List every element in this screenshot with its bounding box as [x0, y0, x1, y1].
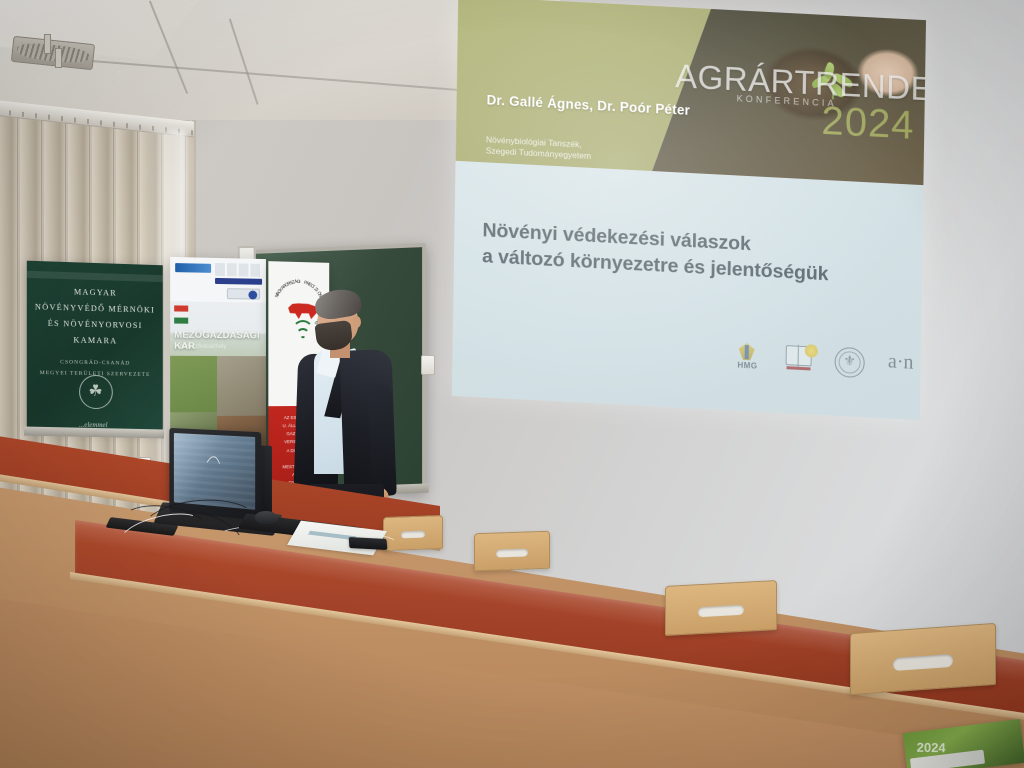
conference-brand: AGRÁRTRENDEK KONFERENCIA 2024 [668, 59, 920, 170]
chair-back[interactable] [850, 623, 996, 695]
eu-flag-strip-icon [215, 278, 262, 285]
mobile-phone[interactable] [349, 537, 388, 550]
hmg-logo-icon: HMG [730, 340, 765, 376]
ceiling-seam [40, 56, 459, 90]
presentation-slide: AGRÁRTRENDEK KONFERENCIA 2024 Dr. Gallé … [452, 0, 926, 420]
slide-title: Növényi védekezési válaszok a változó kö… [482, 217, 903, 291]
ear [352, 316, 361, 328]
an-logo-label: a·n [884, 351, 918, 373]
kamara-title-line-3: ÉS NÖVÉNYORVOSI [35, 315, 155, 334]
lecture-hall-photo: AGRÁRTRENDEK KONFERENCIA 2024 Dr. Gallé … [0, 0, 1024, 768]
vent-bracket [44, 34, 51, 54]
hungarian-flag-icon [174, 305, 188, 323]
chair-back[interactable] [665, 580, 777, 636]
mouse[interactable] [254, 511, 278, 524]
ceiling-seam [229, 19, 258, 105]
projection-screen: AGRÁRTRENDEK KONFERENCIA 2024 Dr. Gallé … [452, 0, 926, 420]
an-logo-icon: a·n [883, 348, 918, 384]
mate-logo-icon [781, 343, 816, 379]
kamara-title-line-4: KAMARA [35, 332, 155, 351]
vent-bracket [55, 48, 62, 68]
seal-logo-icon [832, 346, 867, 382]
chair-back[interactable] [474, 531, 550, 572]
wall-socket[interactable] [421, 355, 435, 375]
crest-icon: ☘ [79, 375, 113, 409]
szte-logo-icon [175, 263, 211, 273]
sponsor-logo-row: HMG a·n [730, 340, 918, 384]
brochure-year: 2024 [917, 740, 946, 756]
mgk-subtitle: Hódmezővásárhely [175, 344, 264, 350]
kamara-title: MAGYAR NÖVÉNYVÉDŐ MÉRNÖKI ÉS NÖVÉNYORVOS… [35, 283, 155, 350]
hmg-logo-label: HMG [730, 360, 764, 371]
slide-header: AGRÁRTRENDEK KONFERENCIA 2024 Dr. Gallé … [456, 0, 927, 185]
brand-year: 2024 [821, 101, 915, 146]
eu-logos-icon [215, 263, 262, 277]
szechenyi-badge-icon [227, 288, 260, 299]
banner-kamara: MAGYAR NÖVÉNYVÉDŐ MÉRNÖKI ÉS NÖVÉNYORVOS… [27, 261, 163, 432]
